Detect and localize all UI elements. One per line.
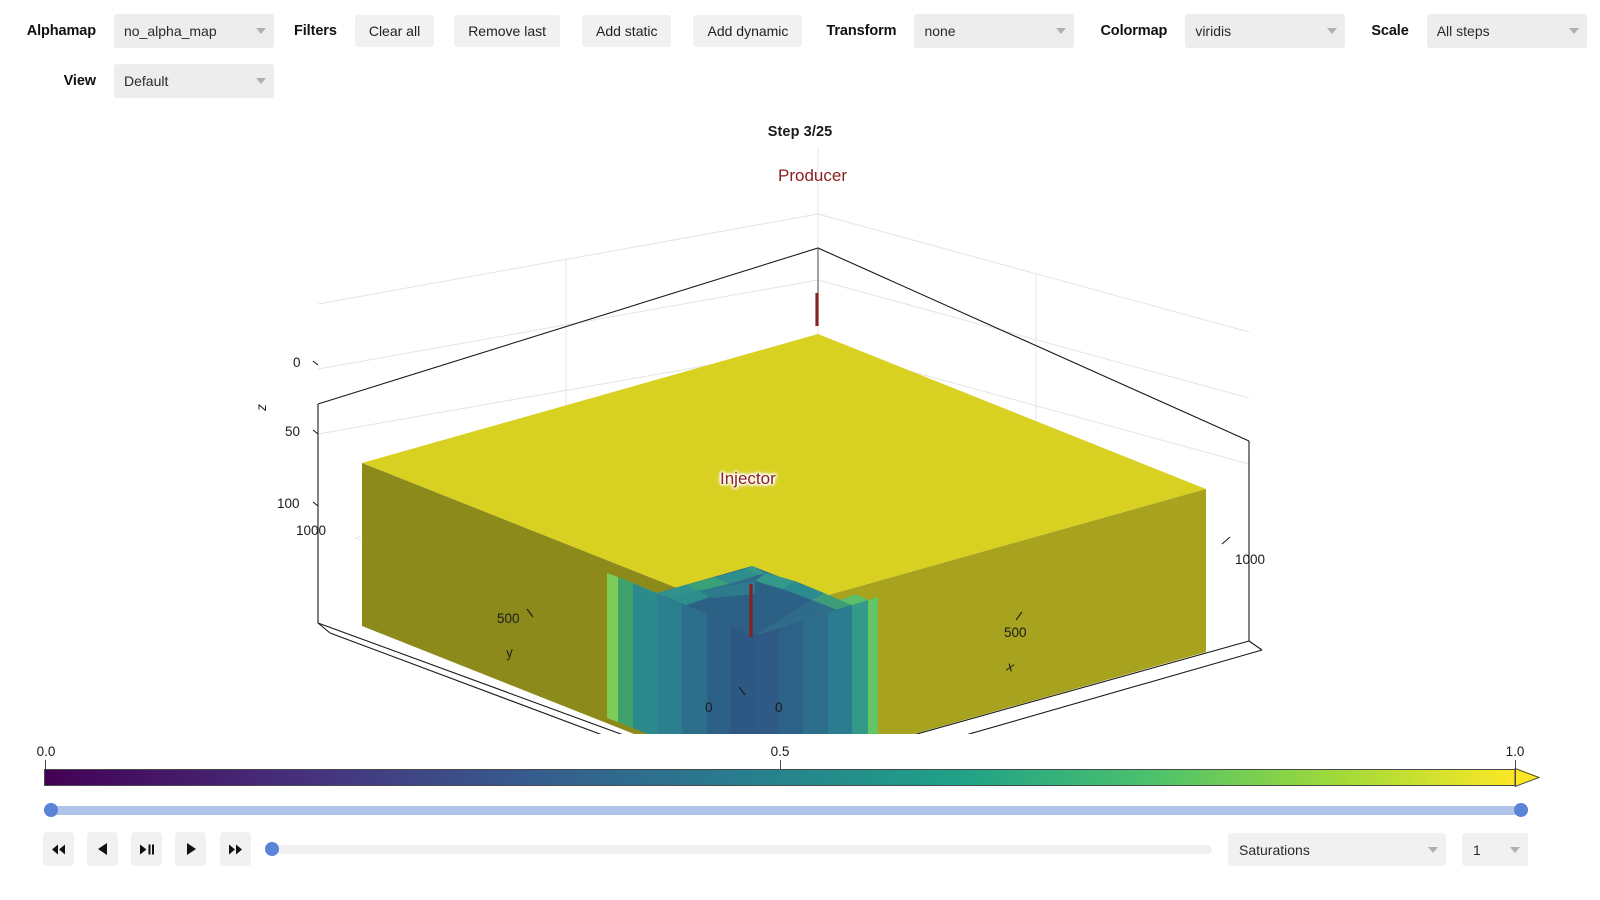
chevron-down-icon (256, 28, 266, 34)
playback-bar: Saturations 1 (0, 832, 1600, 872)
skip-to-start-button[interactable] (43, 832, 74, 866)
range-slider-high-handle[interactable] (1514, 803, 1528, 817)
view-select-value: Default (124, 73, 250, 89)
step-slider-handle[interactable] (265, 842, 279, 856)
add-dynamic-button[interactable]: Add dynamic (693, 15, 802, 47)
view-label: View (0, 73, 96, 89)
colormap-select-value: viridis (1195, 23, 1321, 39)
colorbar-tick-label-0: 0.0 (37, 744, 56, 759)
fast-rewind-icon (51, 843, 66, 856)
colorbar-range-slider[interactable] (44, 803, 1528, 817)
plot-title: Step 3/25 (0, 124, 1600, 140)
z-tick-0: 0 (293, 355, 301, 370)
z-tick-100: 100 (277, 496, 300, 511)
reservoir-3d-plot[interactable]: Step 3/25 (0, 104, 1600, 734)
play-pause-icon (139, 843, 155, 856)
range-slider-low-handle[interactable] (44, 803, 58, 817)
chevron-down-icon (256, 78, 266, 84)
colorbar-tick-label-2: 1.0 (1506, 744, 1525, 759)
transform-label: Transform (826, 23, 896, 39)
z-axis-label: z (254, 404, 269, 411)
x-tick-0: 0 (775, 700, 783, 715)
step-back-button[interactable] (87, 832, 118, 866)
fast-forward-icon (228, 843, 243, 856)
transform-select[interactable]: none (914, 14, 1074, 48)
chevron-down-icon (1569, 28, 1579, 34)
scale-select[interactable]: All steps (1427, 14, 1587, 48)
filters-label: Filters (294, 23, 337, 39)
property-select[interactable]: Saturations (1228, 833, 1446, 866)
colormap-label: Colormap (1100, 23, 1167, 39)
colorbar-gradient (44, 769, 1516, 786)
top-toolbar: Alphamap no_alpha_map Filters Clear all … (0, 0, 1600, 102)
speed-select-value: 1 (1473, 842, 1504, 858)
x-tick-1000: 1000 (1235, 552, 1265, 567)
y-tick-500: 500 (497, 611, 520, 626)
play-icon (184, 842, 198, 856)
y-tick-0: 0 (705, 700, 713, 715)
colorbar-tick-label-1: 0.5 (771, 744, 790, 759)
colorbar-tick-mark-0 (45, 760, 46, 769)
play-button[interactable] (175, 832, 206, 866)
speed-select[interactable]: 1 (1462, 833, 1528, 866)
colorbar-extend-outline (1514, 768, 1540, 787)
z-tick-50: 50 (285, 424, 300, 439)
step-slider-track[interactable] (265, 845, 1212, 854)
play-pause-button[interactable] (131, 832, 162, 866)
view-select[interactable]: Default (114, 64, 274, 98)
colormap-select[interactable]: viridis (1185, 14, 1345, 48)
chevron-down-icon (1510, 847, 1520, 853)
scale-label: Scale (1371, 23, 1408, 39)
plume-transition-right (852, 597, 878, 734)
alphamap-select[interactable]: no_alpha_map (114, 14, 274, 48)
colorbar-tick-mark-2 (1515, 760, 1516, 769)
x-tick-500: 500 (1004, 625, 1027, 640)
chevron-down-icon (1056, 28, 1066, 34)
toolbar-row-secondary: View Default (0, 64, 1600, 98)
chevron-down-icon (1428, 847, 1438, 853)
chevron-down-icon (1327, 28, 1337, 34)
remove-last-button[interactable]: Remove last (454, 15, 560, 47)
step-slider[interactable] (265, 842, 1212, 856)
plot-canvas[interactable] (0, 104, 1600, 734)
scale-select-value: All steps (1437, 23, 1563, 39)
transform-select-value: none (924, 23, 1050, 39)
step-back-icon (96, 842, 110, 856)
range-slider-track[interactable] (44, 806, 1528, 815)
colorbar: 0.0 0.5 1.0 (44, 748, 1556, 784)
add-static-button[interactable]: Add static (582, 15, 671, 47)
colorbar-tick-mark-1 (780, 760, 781, 769)
plume-transition-left (607, 573, 657, 734)
property-select-value: Saturations (1239, 842, 1422, 858)
skip-to-end-button[interactable] (220, 832, 251, 866)
alphamap-select-value: no_alpha_map (124, 23, 250, 39)
clear-all-button[interactable]: Clear all (355, 15, 434, 47)
y-tick-1000: 1000 (296, 523, 326, 538)
toolbar-row-primary: Alphamap no_alpha_map Filters Clear all … (0, 14, 1600, 48)
alphamap-label: Alphamap (0, 23, 96, 39)
